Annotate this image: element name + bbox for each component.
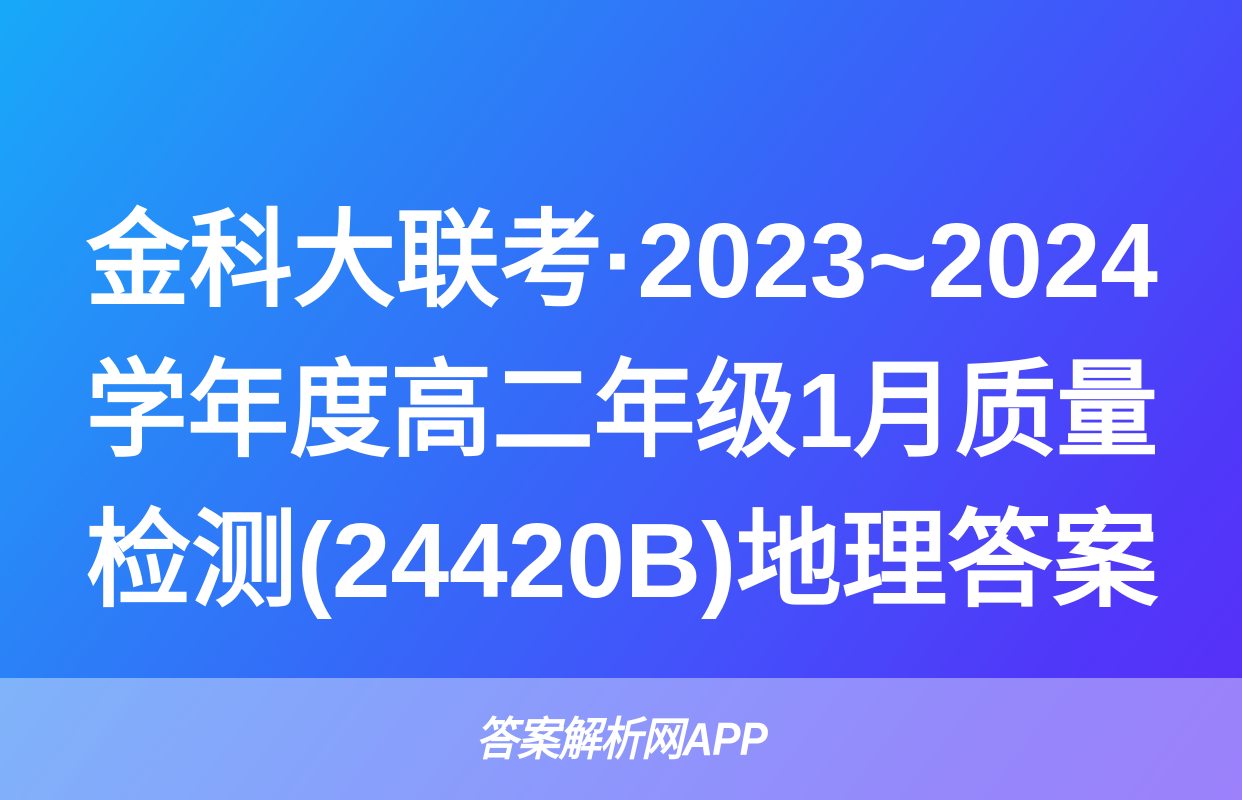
footer-brand-band: 答案解析网APP — [0, 678, 1242, 800]
poster-title-block: 金科大联考·2023~2024 学年度高二年级1月质量 检测(24420B)地理… — [86, 186, 1158, 636]
exam-answer-poster: 金科大联考·2023~2024 学年度高二年级1月质量 检测(24420B)地理… — [0, 0, 1242, 800]
footer-brand-label: 答案解析网APP — [475, 716, 766, 762]
poster-title-line-1: 金科大联考·2023~2024 — [86, 186, 1132, 336]
poster-title-line-3: 检测(24420B)地理答案 — [86, 486, 1152, 636]
poster-title-line-2: 学年度高二年级1月质量 — [86, 336, 1113, 486]
